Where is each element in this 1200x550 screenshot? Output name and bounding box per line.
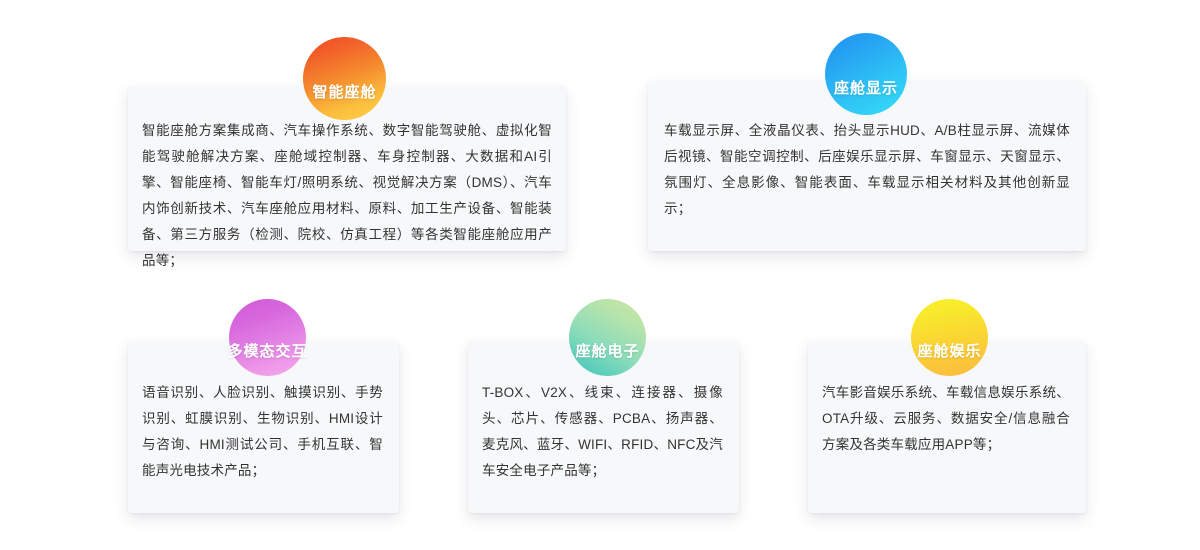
category-card-board: 智能座舱方案集成商、汽车操作系统、数字智能驾驶舱、虚拟化智能驾驶舱解决方案、座舱…: [0, 0, 1200, 550]
category-badge-label: 座舱电子: [575, 344, 639, 359]
category-badge-label: 座舱娱乐: [917, 344, 981, 359]
category-badge-label: 智能座舱: [312, 85, 376, 100]
category-badge-cockpit-display[interactable]: 座舱显示: [825, 33, 907, 115]
category-badge-smart-cockpit[interactable]: 智能座舱: [303, 37, 386, 120]
category-card-description: 智能座舱方案集成商、汽车操作系统、数字智能驾驶舱、虚拟化智能驾驶舱解决方案、座舱…: [142, 118, 552, 274]
category-badge-cockpit-electronics[interactable]: 座舱电子: [569, 299, 646, 376]
category-badge-label: 座舱显示: [834, 81, 898, 96]
category-badge-multimodal-interaction[interactable]: 多模态交互: [229, 299, 306, 376]
category-card-description: T-BOX、V2X、线束、连接器、摄像头、芯片、传感器、PCBA、扬声器、麦克风…: [482, 380, 723, 484]
category-card-description: 语音识别、人脸识别、触摸识别、手势识别、虹膜识别、生物识别、HMI设计与咨询、H…: [142, 380, 383, 484]
category-badge-cockpit-entertainment[interactable]: 座舱娱乐: [911, 299, 988, 376]
category-badge-label: 多模态交互: [228, 344, 308, 359]
category-card-description: 汽车影音娱乐系统、车载信息娱乐系统、OTA升级、云服务、数据安全/信息融合方案及…: [822, 380, 1070, 458]
category-card-description: 车载显示屏、全液晶仪表、抬头显示HUD、A/B柱显示屏、流媒体后视镜、智能空调控…: [664, 118, 1070, 222]
